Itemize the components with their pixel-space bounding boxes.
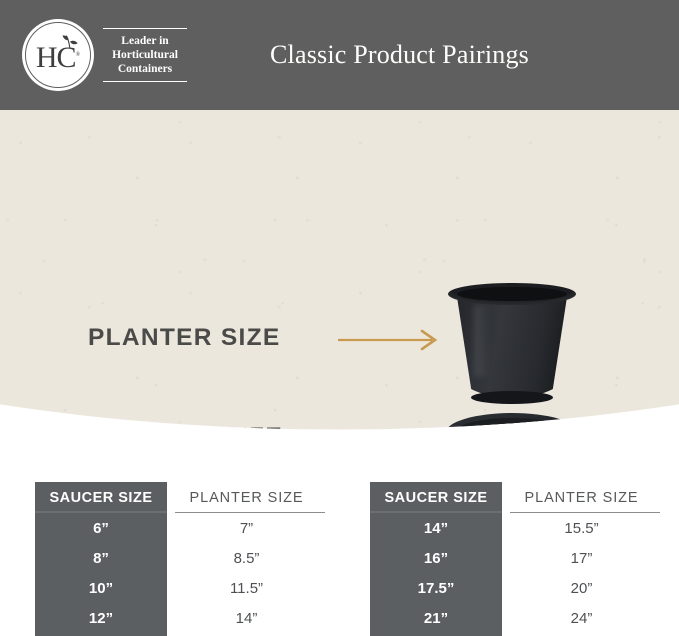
cell-planter-size: 15.5” [502,513,661,543]
table-row: 17.5” 20” [370,573,661,603]
table-row: 12” 14” [35,603,326,633]
cell-planter-size: 20” [502,573,661,603]
size-tables: SAUCER SIZE PLANTER SIZE 6” 7” 8” 8.5” 1… [0,482,679,636]
table-body: 6” 7” 8” 8.5” 10” 11.5” 12” 14” [35,513,326,633]
logo-circle-mark: HC® [22,19,94,91]
saucer-foot [464,435,560,457]
planter-rim [448,283,576,305]
diagram-panel: PLANTER SIZE SAUCER SIZE [0,110,679,436]
logo-trademark: ® [76,52,81,58]
size-table-large: SAUCER SIZE PLANTER SIZE 14” 15.5” 16” 1… [370,482,661,636]
table-row: 10” 11.5” [35,573,326,603]
size-table-small: SAUCER SIZE PLANTER SIZE 6” 7” 8” 8.5” 1… [35,482,326,636]
callout-label-saucer-size: SAUCER SIZE [104,423,283,451]
arrow-right-icon [338,427,442,451]
table-header-divider [370,511,502,513]
logo-tagline-line-2: Horticultural [105,48,185,62]
logo-tagline: Leader in Horticultural Containers [103,28,187,82]
planter-product-image [448,283,576,400]
table-header-underline [510,512,660,513]
table-header-row: SAUCER SIZE PLANTER SIZE [35,482,326,513]
brand-logo: HC® Leader in Horticultural Containers [22,19,187,91]
planter-rim-opening [457,287,567,301]
logo-tagline-line-1: Leader in [105,34,185,48]
cell-planter-size: 7” [167,513,326,543]
cell-saucer-size: 21” [370,603,502,633]
column-header-planter-size: PLANTER SIZE [167,482,326,513]
table-header-underline [175,512,325,513]
arrow-right-icon [338,328,442,352]
logo-tagline-line-3: Containers [105,62,185,76]
cell-saucer-size: 10” [35,573,167,603]
cell-planter-size: 17” [502,543,661,573]
planter-base [471,391,553,404]
table-header-row: SAUCER SIZE PLANTER SIZE [370,482,661,513]
callout-label-planter-size: PLANTER SIZE [88,324,281,352]
table-row: 8” 8.5” [35,543,326,573]
cell-planter-size: 11.5” [167,573,326,603]
sprout-leaves-icon [60,33,80,49]
table-row: 16” 17” [370,543,661,573]
cell-saucer-size: 14” [370,513,502,543]
cell-planter-size: 24” [502,603,661,633]
column-header-saucer-size: SAUCER SIZE [370,482,502,513]
cell-planter-size: 8.5” [167,543,326,573]
cell-planter-size: 14” [167,603,326,633]
cell-saucer-size: 6” [35,513,167,543]
planter-highlight [474,305,490,377]
table-row: 14” 15.5” [370,513,661,543]
column-header-planter-size: PLANTER SIZE [502,482,661,513]
table-row: 6” 7” [35,513,326,543]
cell-saucer-size: 12” [35,603,167,633]
cell-saucer-size: 16” [370,543,502,573]
table-body: 14” 15.5” 16” 17” 17.5” 20” 21” 24” [370,513,661,633]
cell-saucer-size: 17.5” [370,573,502,603]
column-header-saucer-size: SAUCER SIZE [35,482,167,513]
table-row: 21” 24” [370,603,661,633]
saucer-basin-floor [467,422,557,440]
cell-saucer-size: 8” [35,543,167,573]
header-band: HC® Leader in Horticultural Containers C… [0,0,679,110]
saucer-product-image [446,413,578,460]
table-header-divider [35,511,167,513]
